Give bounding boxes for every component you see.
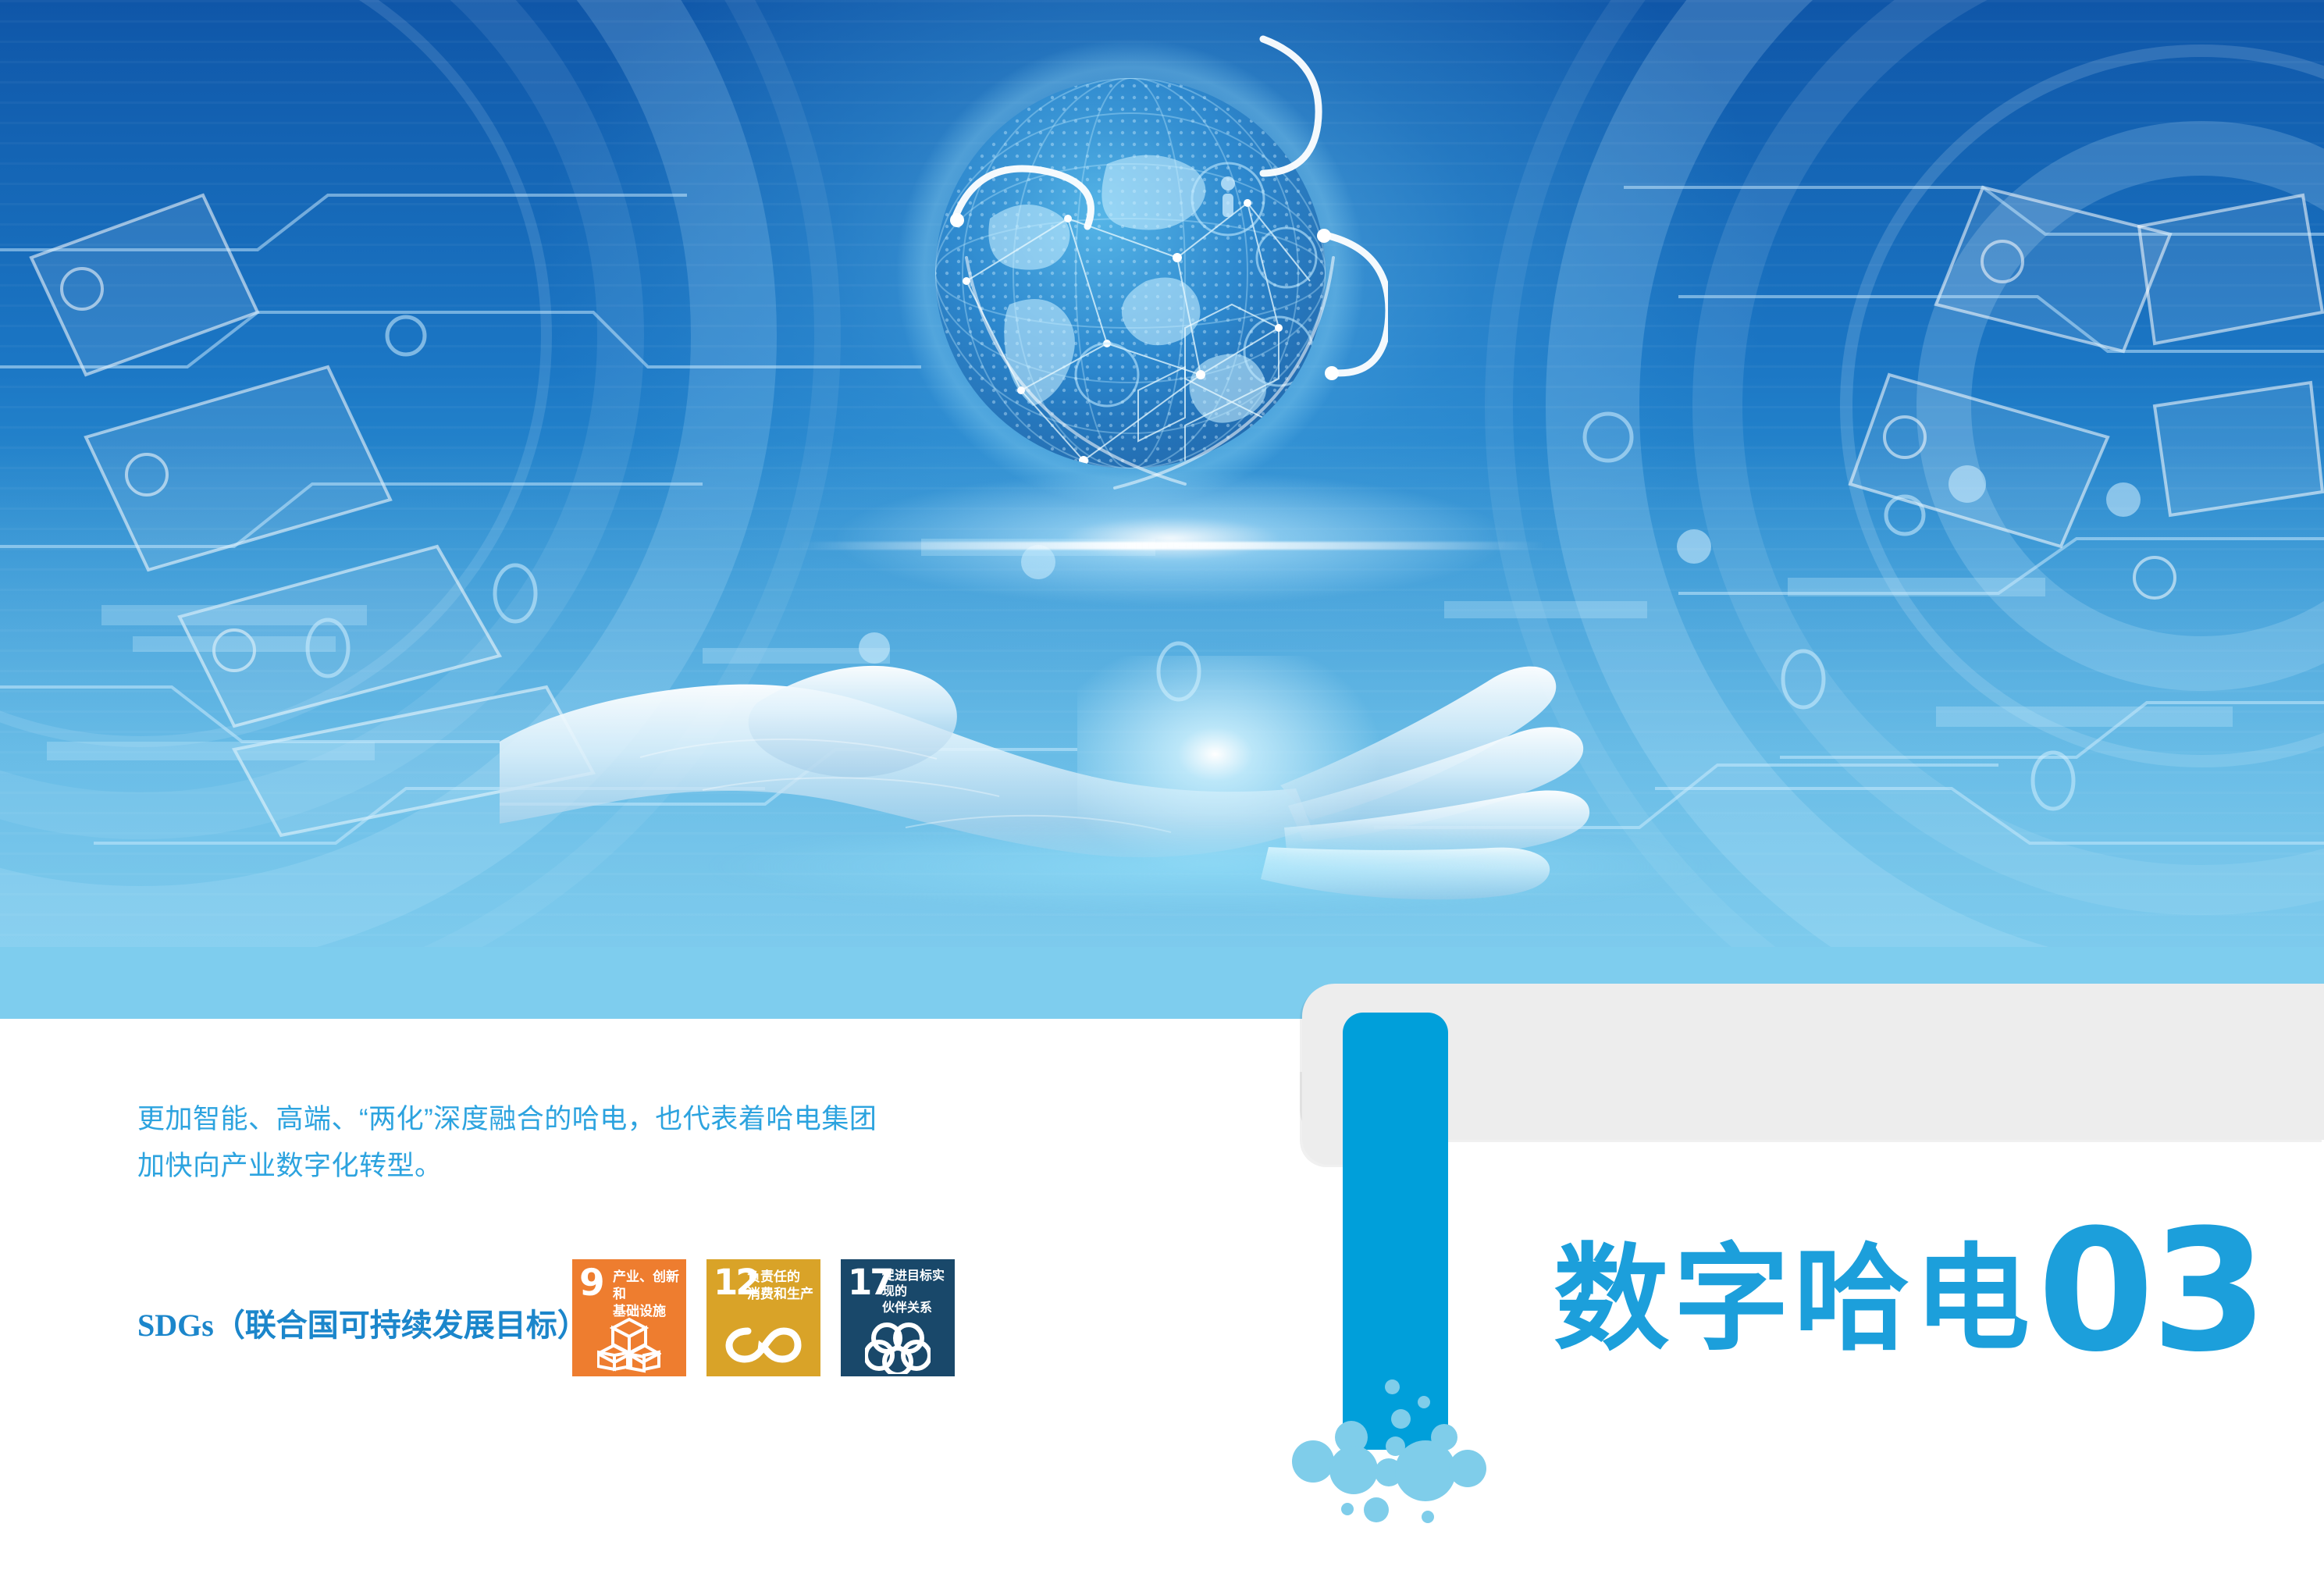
body-copy: 更加智能、高端、“两化”深度融合的哈电，也代表着哈电集团 加快向产业数字化转型。 <box>137 1096 996 1190</box>
globe-glow <box>820 468 1522 609</box>
bubble <box>1292 1440 1334 1483</box>
bubble <box>1395 1440 1456 1501</box>
horizon-light-streak <box>796 542 1546 550</box>
sdg-text-line-1: 产业、创新和 <box>613 1269 682 1303</box>
sdg-text-line-1: 促进目标实现的 <box>882 1269 951 1301</box>
section-title: 数字哈电 03 <box>1553 1226 2265 1357</box>
sdg-text-line-2: 消费和生产 <box>747 1286 817 1303</box>
sdg-tile-12[interactable]: 12 负责任的 消费和生产 <box>706 1259 820 1376</box>
sdg-text: 负责任的 消费和生产 <box>747 1269 817 1303</box>
bubble <box>1341 1503 1354 1515</box>
bubble <box>1418 1396 1430 1408</box>
body-copy-line-2: 加快向产业数字化转型。 <box>137 1143 996 1190</box>
body-copy-line-1: 更加智能、高端、“两化”深度融合的哈电，也代表着哈电集团 <box>137 1096 996 1143</box>
sdg-text: 促进目标实现的 伙伴关系 <box>882 1269 951 1316</box>
bubble <box>1329 1446 1378 1494</box>
bubble <box>1364 1497 1389 1522</box>
globe-hud-figure <box>1221 176 1235 217</box>
bubble <box>1385 1379 1400 1394</box>
sdg-label-cn: （联合国可持续发展目标） <box>214 1308 589 1343</box>
sdg-text-line-2: 伙伴关系 <box>882 1301 951 1316</box>
section-title-number: 03 <box>2038 1226 2265 1357</box>
sdg-label: SDGs（联合国可持续发展目标） <box>137 1300 589 1345</box>
sdg-tile-9[interactable]: 9 产业、创新和 基础设施 <box>572 1259 686 1376</box>
hero-banner <box>0 0 2324 947</box>
bubble <box>1391 1409 1411 1429</box>
sdg-text: 产业、创新和 基础设施 <box>613 1269 682 1319</box>
sdg-label-en: SDGs <box>137 1308 214 1343</box>
cubes-icon <box>572 1315 686 1375</box>
sdg-tile-17[interactable]: 17 促进目标实现的 伙伴关系 <box>841 1259 955 1376</box>
pour-gray-bar <box>1302 984 2324 1140</box>
sdg-tile-list: 9 产业、创新和 基础设施 12 负责任的 消费和生产 <box>572 1259 955 1376</box>
floor-glow <box>703 820 1717 913</box>
sdg-text-line-1: 负责任的 <box>747 1269 817 1286</box>
section-title-text: 数字哈电 <box>1553 1241 2034 1357</box>
bubble <box>1449 1450 1486 1487</box>
bubble <box>1422 1511 1434 1523</box>
interlocking-circles-icon <box>841 1315 955 1375</box>
digital-globe <box>873 23 1388 539</box>
sdg-number: 9 <box>579 1265 603 1301</box>
infinity-arrow-icon <box>706 1315 820 1375</box>
